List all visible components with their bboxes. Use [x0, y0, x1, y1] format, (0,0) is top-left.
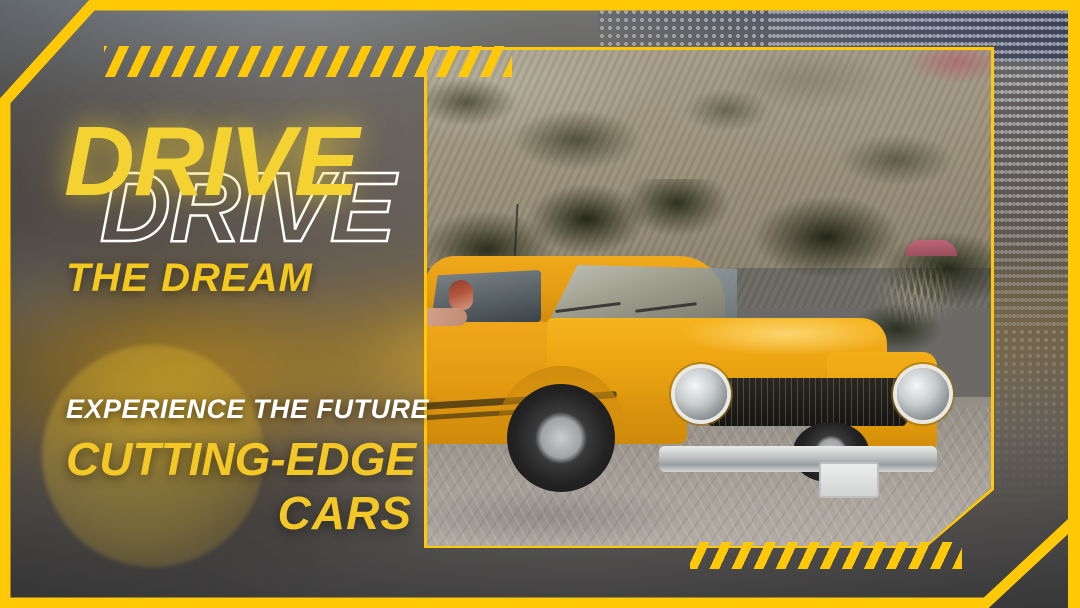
car-grille [707, 378, 907, 426]
car-driver-arm [427, 308, 467, 326]
photo-distant-canopy [807, 50, 991, 122]
car-front-bumper [659, 446, 937, 472]
car-rear-wheel [507, 384, 615, 492]
poster-canvas: DRIVE DRIVE THE DREAM EXPERIENCE THE FUT… [0, 0, 1080, 608]
hero-photo-card [424, 47, 994, 549]
car-headlight-right [897, 368, 949, 420]
car-headlight-left [675, 368, 727, 420]
car-license-plate [819, 462, 879, 498]
hero-photo [427, 50, 991, 546]
car-windshield [547, 265, 737, 325]
photo-scene [427, 50, 991, 546]
car-driver [449, 280, 473, 310]
photo-car [427, 256, 957, 506]
